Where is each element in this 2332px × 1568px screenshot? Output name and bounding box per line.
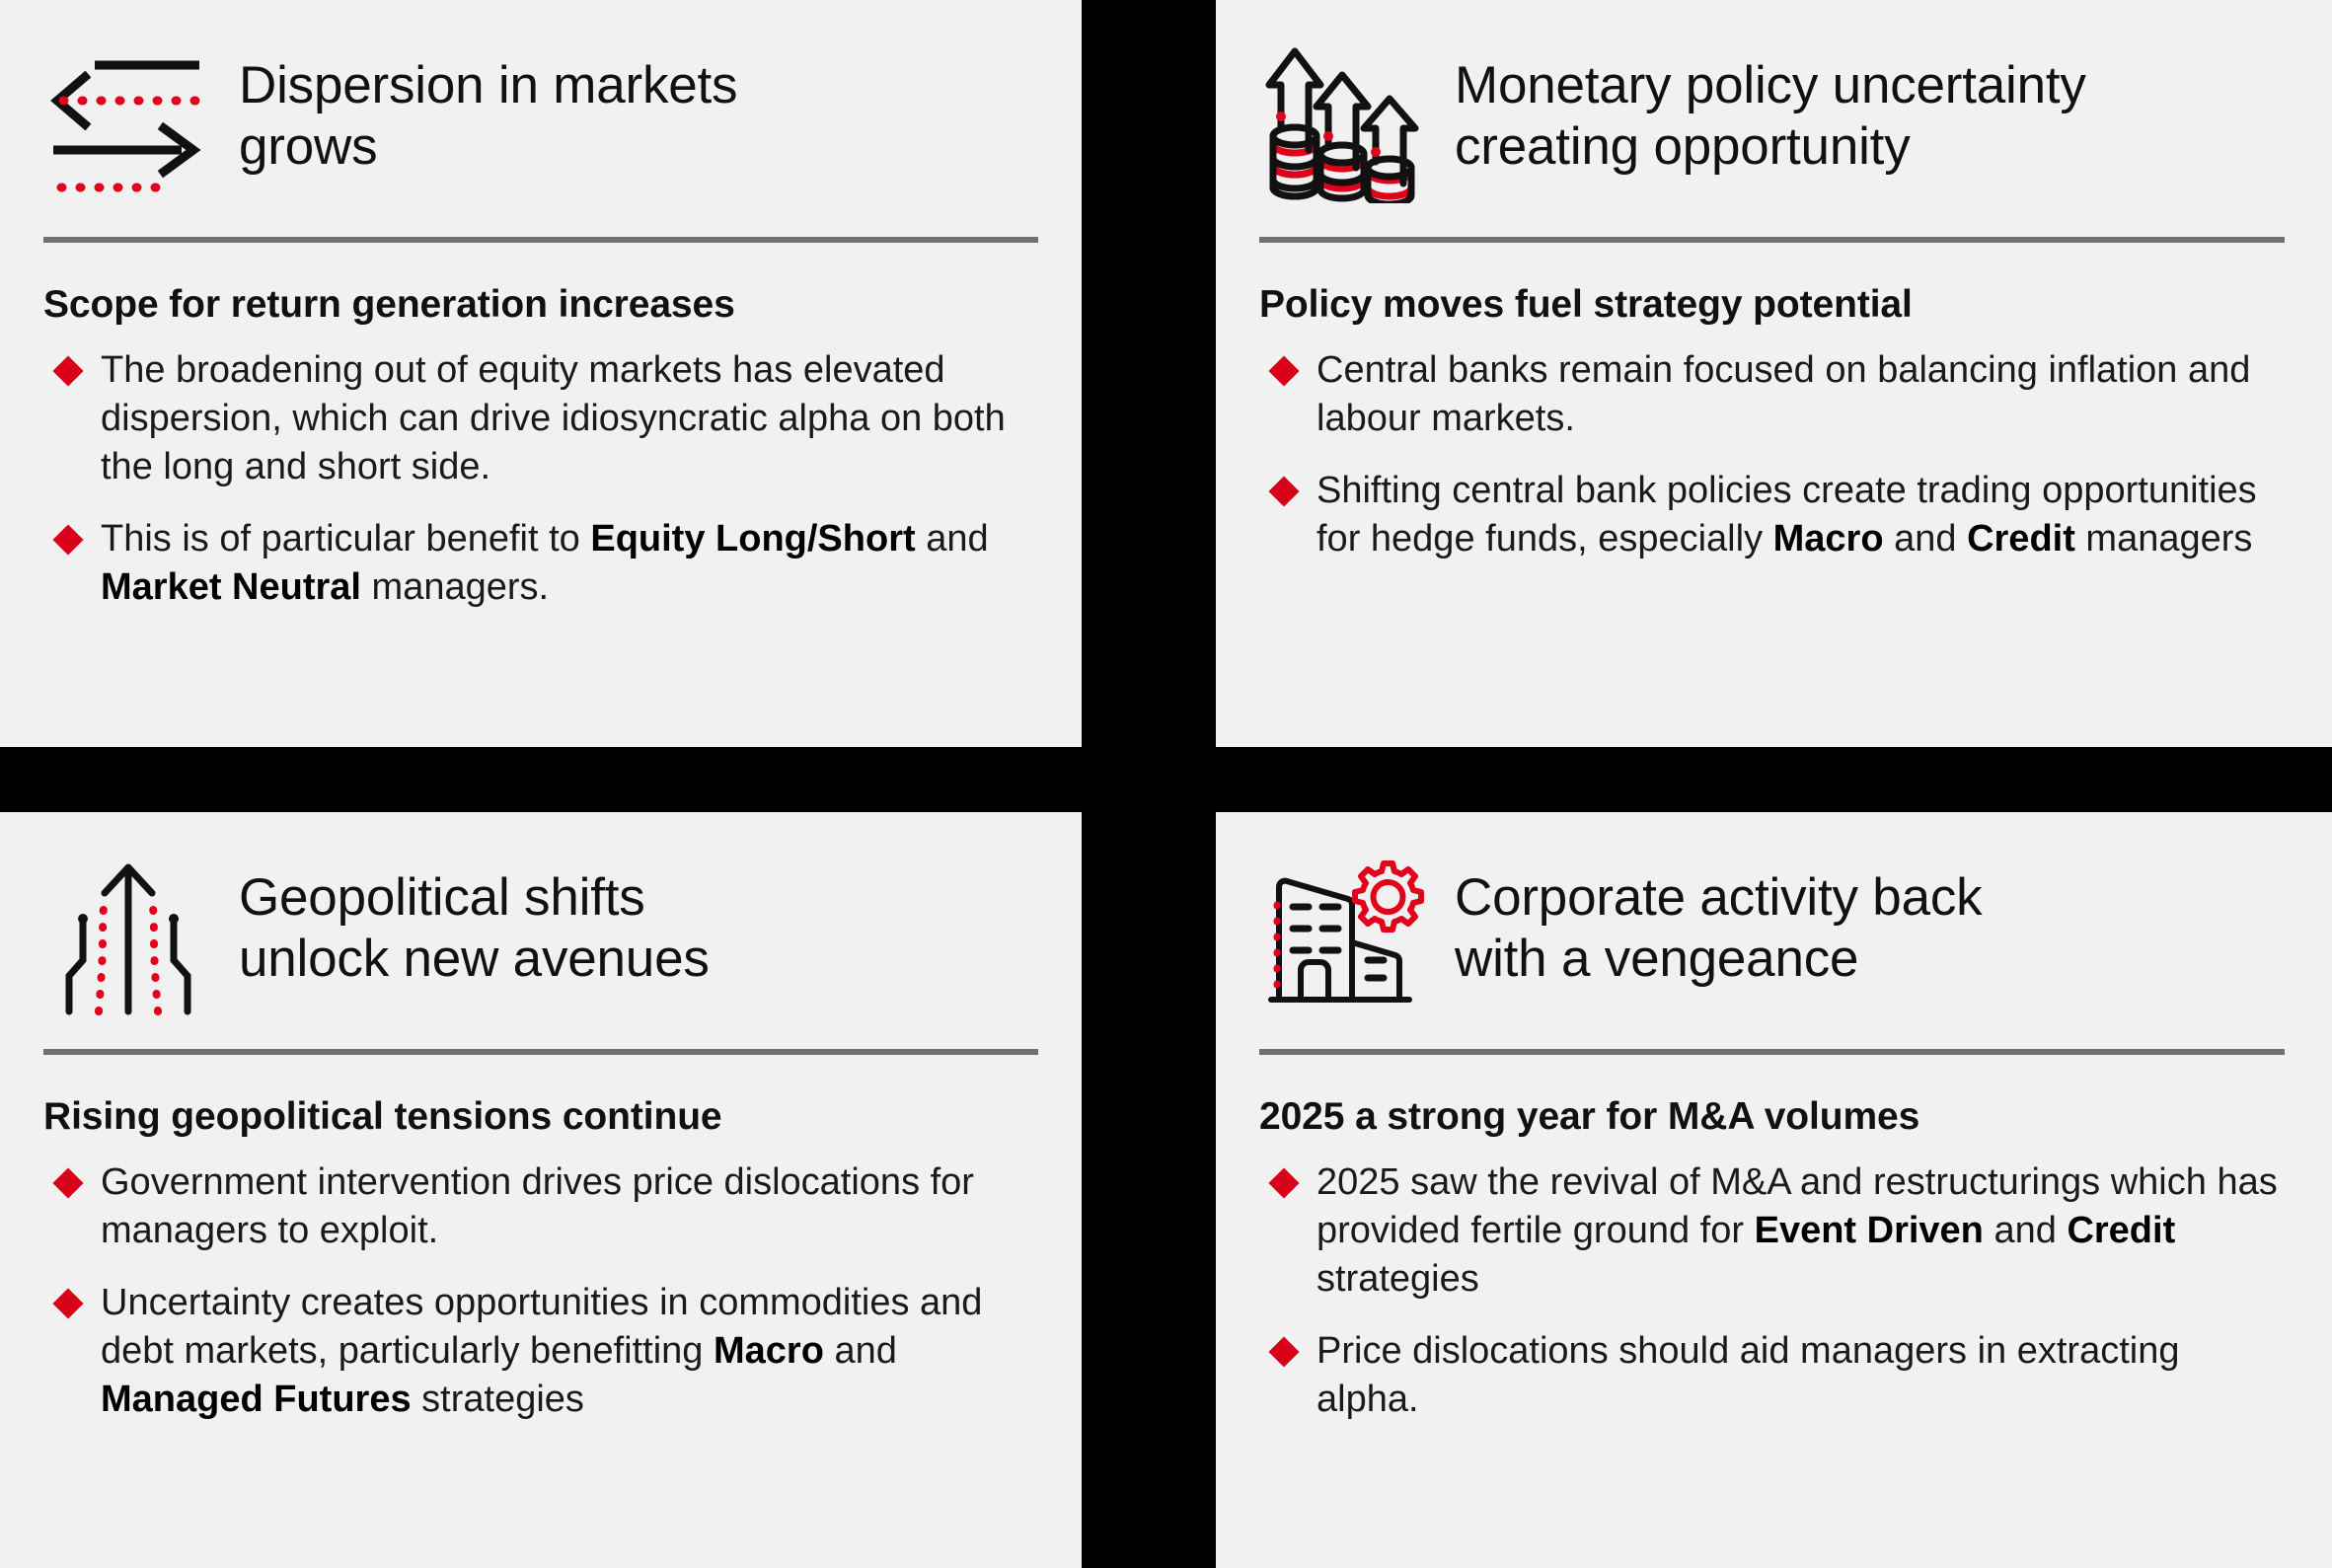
diamond-bullet-icon <box>52 1288 83 1318</box>
panel-header: Dispersion in markets grows <box>43 34 1038 217</box>
diamond-bullet-icon <box>52 524 83 555</box>
bullet-text: Uncertainty creates opportunities in com… <box>101 1282 982 1420</box>
panel-title: Corporate activity back with a vengeance <box>1455 846 1982 990</box>
panel-dispersion: Dispersion in markets grows Scope for re… <box>0 0 1082 747</box>
list-item: Central banks remain focused on balancin… <box>1259 346 2289 443</box>
panel-title: Dispersion in markets grows <box>239 34 737 178</box>
bullet-text: The broadening out of equity markets has… <box>101 349 1006 487</box>
list-item: This is of particular benefit to Equity … <box>43 515 1038 612</box>
bullet-text: Central banks remain focused on balancin… <box>1316 349 2250 439</box>
panel-header: Geopolitical shifts unlock new avenues <box>43 846 1038 1029</box>
bullet-list: The broadening out of equity markets has… <box>43 346 1038 612</box>
panel-title: Monetary policy uncertainty creating opp… <box>1455 34 2086 178</box>
panel-header: Monetary policy uncertainty creating opp… <box>1259 34 2289 217</box>
buildings-gear-icon <box>1259 846 1429 1015</box>
diamond-bullet-icon <box>52 355 83 386</box>
bullet-text: This is of particular benefit to Equity … <box>101 518 989 608</box>
panel-monetary-policy: Monetary policy uncertainty creating opp… <box>1216 0 2332 747</box>
bullet-list: Central banks remain focused on balancin… <box>1259 346 2289 563</box>
panel-body: Scope for return generation increases Th… <box>43 243 1038 612</box>
panel-subheading: Scope for return generation increases <box>43 282 1038 329</box>
list-item: Price dislocations should aid managers i… <box>1259 1327 2289 1424</box>
panel-body: Policy moves fuel strategy potential Cen… <box>1259 243 2289 563</box>
bullet-list: Government intervention drives price dis… <box>43 1158 1038 1424</box>
diamond-bullet-icon <box>1268 355 1299 386</box>
diamond-bullet-icon <box>1268 1336 1299 1367</box>
panel-header: Corporate activity back with a vengeance <box>1259 846 2289 1029</box>
panel-body: Rising geopolitical tensions continue Go… <box>43 1055 1038 1424</box>
upward-arrow-paths-icon <box>43 846 213 1015</box>
dispersion-arrows-icon <box>43 34 213 203</box>
bullet-text: Government intervention drives price dis… <box>101 1161 974 1251</box>
bullet-text: Shifting central bank policies create tr… <box>1316 470 2257 560</box>
list-item: The broadening out of equity markets has… <box>43 346 1038 491</box>
panel-corporate-activity: Corporate activity back with a vengeance… <box>1216 812 2332 1568</box>
diamond-bullet-icon <box>1268 1167 1299 1198</box>
panel-subheading: Rising geopolitical tensions continue <box>43 1094 1038 1141</box>
bullet-list: 2025 saw the revival of M&A and restruct… <box>1259 1158 2289 1424</box>
list-item: Shifting central bank policies create tr… <box>1259 467 2289 563</box>
list-item: Uncertainty creates opportunities in com… <box>43 1279 1038 1424</box>
panel-subheading: 2025 a strong year for M&A volumes <box>1259 1094 2289 1141</box>
coin-stacks-arrows-icon <box>1259 34 1429 203</box>
bullet-text: Price dislocations should aid managers i… <box>1316 1330 2179 1420</box>
bullet-text: 2025 saw the revival of M&A and restruct… <box>1316 1161 2278 1300</box>
four-panel-board: Dispersion in markets grows Scope for re… <box>0 0 2332 1568</box>
panel-body: 2025 a strong year for M&A volumes 2025 … <box>1259 1055 2289 1424</box>
diamond-bullet-icon <box>1268 476 1299 506</box>
list-item: Government intervention drives price dis… <box>43 1158 1038 1255</box>
panel-subheading: Policy moves fuel strategy potential <box>1259 282 2289 329</box>
diamond-bullet-icon <box>52 1167 83 1198</box>
panel-title: Geopolitical shifts unlock new avenues <box>239 846 710 990</box>
list-item: 2025 saw the revival of M&A and restruct… <box>1259 1158 2289 1304</box>
panel-geopolitical: Geopolitical shifts unlock new avenues R… <box>0 812 1082 1568</box>
